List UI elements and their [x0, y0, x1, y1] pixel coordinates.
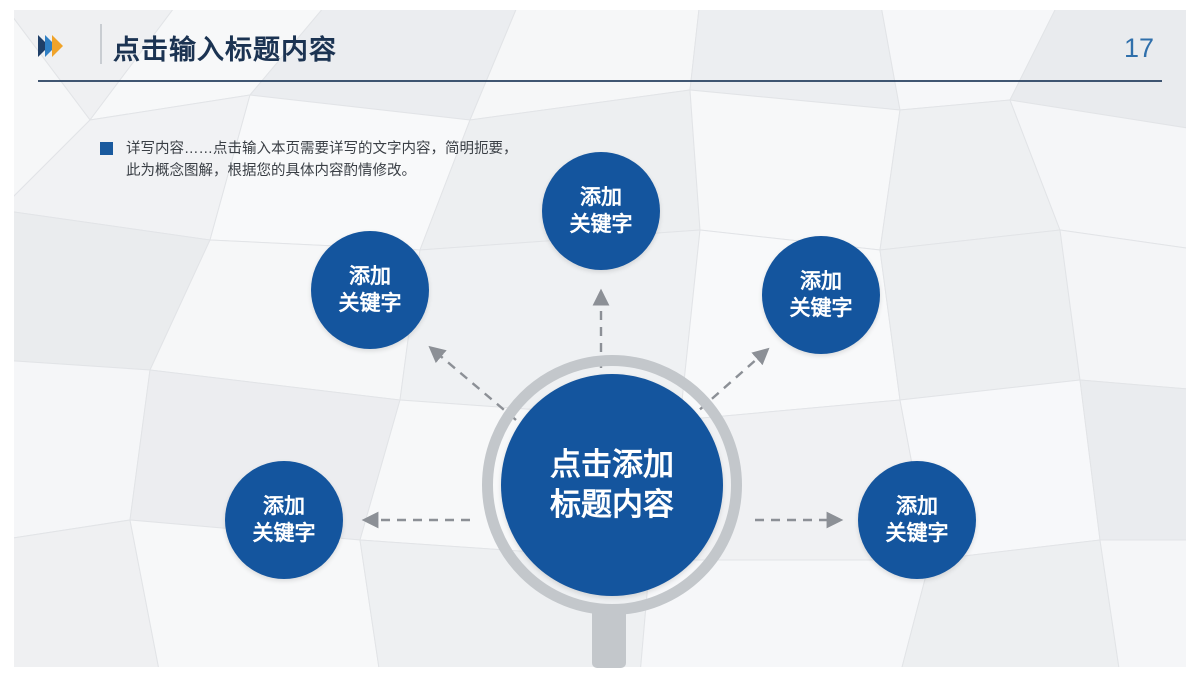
node-lower-left-line1: 添加 [263, 493, 305, 520]
triple-chevron-icon [38, 30, 100, 62]
body-note: 详写内容……点击输入本页需要详写的文字内容，简明扼要，此为概念图解，根据您的具体… [100, 138, 520, 182]
page-number: 17 [1124, 33, 1154, 64]
node-center-line1: 点击添加 [550, 445, 674, 485]
node-lower-left[interactable]: 添加 关键字 [225, 461, 343, 579]
node-lower-right[interactable]: 添加 关键字 [858, 461, 976, 579]
square-bullet-icon [100, 142, 113, 155]
node-lower-right-line2: 关键字 [886, 520, 949, 547]
body-note-text: 详写内容……点击输入本页需要详写的文字内容，简明扼要，此为概念图解，根据您的具体… [126, 138, 520, 182]
header-divider [100, 24, 102, 64]
node-upper-right-line1: 添加 [800, 268, 842, 295]
node-top-line2: 关键字 [570, 211, 633, 238]
arrow-to-upper-left [431, 348, 516, 420]
slide-header: 点击输入标题内容 17 [0, 0, 1200, 86]
magnifier-handle-icon [592, 606, 626, 668]
header-rule [38, 80, 1162, 82]
page-title: 点击输入标题内容 [113, 28, 337, 67]
node-top[interactable]: 添加 关键字 [542, 152, 660, 270]
slide: 点击输入标题内容 17 详写内容……点击输入本页需要详写的文字内容，简明扼要，此… [0, 0, 1200, 675]
node-upper-left-line2: 关键字 [339, 290, 402, 317]
node-upper-right[interactable]: 添加 关键字 [762, 236, 880, 354]
node-lower-left-line2: 关键字 [253, 520, 316, 547]
node-center[interactable]: 点击添加 标题内容 [501, 374, 723, 596]
hub-and-spoke-diagram: 添加 关键字 添加 关键字 添加 关键字 添加 关键字 添加 关键字 点击添加 … [0, 0, 1200, 675]
node-upper-left[interactable]: 添加 关键字 [311, 231, 429, 349]
node-top-line1: 添加 [580, 184, 622, 211]
node-center-line2: 标题内容 [550, 485, 674, 525]
node-upper-right-line2: 关键字 [790, 295, 853, 322]
node-lower-right-line1: 添加 [896, 493, 938, 520]
node-upper-left-line1: 添加 [349, 263, 391, 290]
